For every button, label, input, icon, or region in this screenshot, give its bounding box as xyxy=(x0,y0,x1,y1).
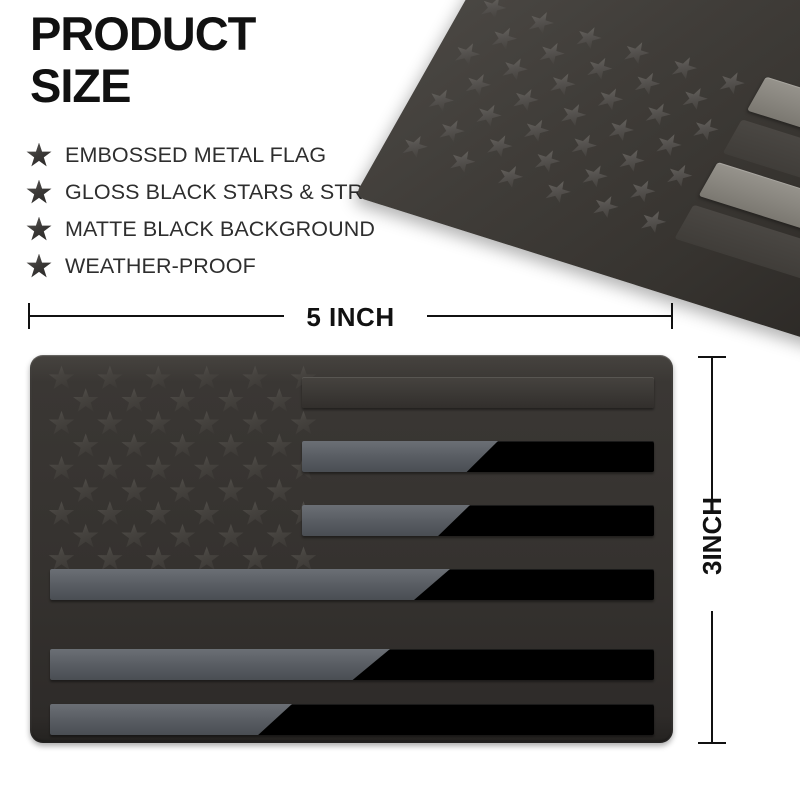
feature-item: WEATHER-PROOF xyxy=(26,251,466,282)
star-icon xyxy=(193,546,220,572)
feature-item: MATTE BLACK BACKGROUND xyxy=(26,214,466,245)
star-row xyxy=(48,478,318,502)
flag-stripe xyxy=(50,649,654,680)
star-icon xyxy=(242,546,269,572)
star-row xyxy=(48,501,318,525)
width-dimension-indicator: 5 INCH xyxy=(28,300,673,334)
star-icon xyxy=(588,192,624,221)
page-title: PRODUCT SIZE xyxy=(30,8,360,112)
flag-stripe xyxy=(50,569,654,600)
star-icon xyxy=(397,132,433,161)
star-icon xyxy=(635,207,671,236)
height-dimension-label: 3INCH xyxy=(697,474,727,598)
flag-stripe xyxy=(302,505,654,536)
star-row xyxy=(48,365,318,389)
star-icon xyxy=(540,177,576,206)
stripe-highlight xyxy=(50,704,292,735)
dimension-line-bottom xyxy=(711,611,713,743)
stripe-highlight xyxy=(50,649,390,680)
star-icon xyxy=(48,546,75,572)
product-size-infographic: PRODUCT SIZE EMBOSSED METAL FLAG GLOSS B… xyxy=(0,0,800,800)
title-line-1: PRODUCT xyxy=(30,7,255,60)
star-row xyxy=(48,410,318,434)
star-icon xyxy=(290,546,317,572)
title-line-2: SIZE xyxy=(30,60,360,112)
star-icon xyxy=(445,147,481,176)
star-icon xyxy=(26,217,52,243)
flag-stripe xyxy=(302,377,654,408)
star-icon xyxy=(145,546,172,572)
embossed-metal-american-flag-emblem xyxy=(30,355,673,743)
feature-label: WEATHER-PROOF xyxy=(65,254,256,279)
star-icon xyxy=(26,254,52,280)
star-row xyxy=(48,433,318,457)
star-row xyxy=(48,388,318,412)
canton-star-field xyxy=(48,365,318,569)
height-dimension-indicator: 3INCH xyxy=(694,356,730,744)
stripe-highlight xyxy=(302,505,470,536)
star-row xyxy=(48,546,318,570)
stripe-highlight xyxy=(50,569,450,600)
width-dimension-label: 5 INCH xyxy=(28,300,673,334)
feature-label: EMBOSSED METAL FLAG xyxy=(65,143,326,168)
flag-stripe xyxy=(50,704,654,735)
flag-stripe xyxy=(302,441,654,472)
star-icon xyxy=(492,162,528,191)
star-row xyxy=(48,455,318,479)
star-row xyxy=(48,523,318,547)
star-icon xyxy=(26,180,52,206)
star-icon xyxy=(96,546,123,572)
stripe-highlight xyxy=(302,441,498,472)
dimension-end-cap-bottom xyxy=(698,742,726,744)
star-icon xyxy=(26,143,52,169)
feature-label: MATTE BLACK BACKGROUND xyxy=(65,217,375,242)
